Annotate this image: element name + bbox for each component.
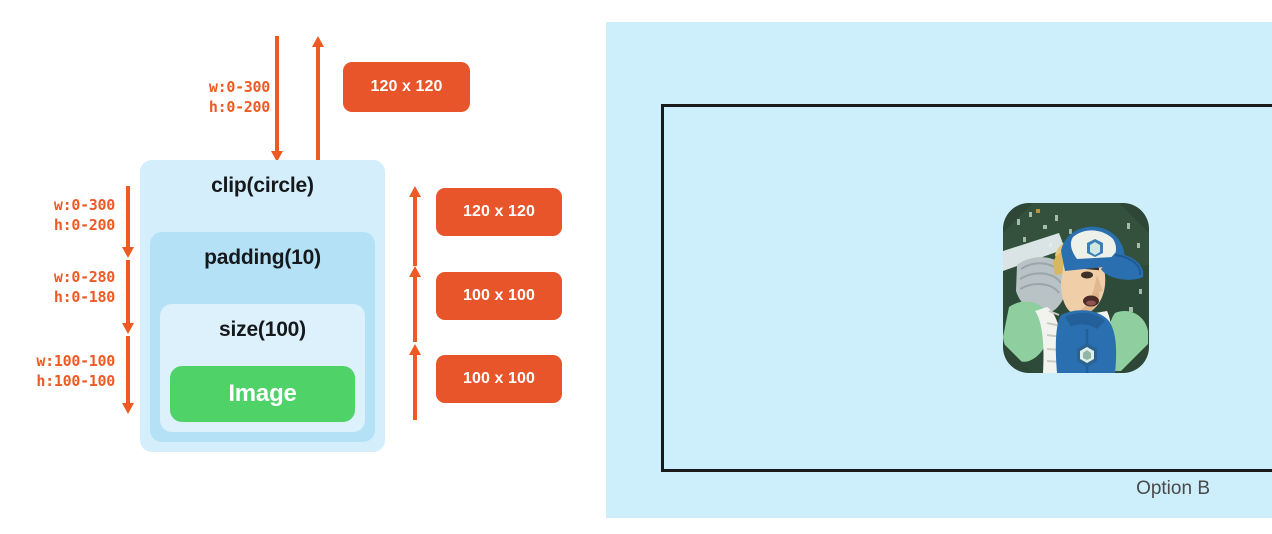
badge-clip-size: 120 x 120 [436,188,562,236]
preview-frame [661,104,1272,472]
preview-panel: Option B [606,22,1272,518]
badge-top: 120 x 120 [343,62,470,112]
widget-label-clip: clip(circle) [140,174,385,198]
badge-padding-size: 100 x 100 [436,272,562,320]
arrow-constraints-down-top [271,36,283,162]
constraint-label-padding: w:0-280h:0-180 [28,268,115,307]
constraint-label-incoming: w:0-300h:0-200 [170,78,270,117]
widget-label-size: size(100) [160,318,365,342]
arrow-size-up-2 [409,266,421,342]
arrow-size-up-1 [409,186,421,266]
arrow-constraint-down-1 [122,186,134,258]
constraint-label-clip: w:0-300h:0-200 [20,196,115,235]
constraint-label-size: w:100-100h:100-100 [8,352,115,391]
layout-constraint-diagram: w:0-300h:0-200 120 x 120 w:0-300h:0-200 … [0,0,600,534]
avatar-artwork-svg [1003,203,1149,373]
arrow-size-up-top [312,36,324,162]
widget-box-clip: clip(circle) padding(10) size(100) Image [140,160,385,452]
widget-label-padding: padding(10) [150,246,375,270]
clipped-avatar-image [1003,203,1149,373]
widget-box-image: Image [170,366,355,422]
arrow-constraint-down-2 [122,260,134,334]
option-label: Option B [1136,478,1210,500]
widget-label-image: Image [228,380,296,408]
diagram-stage: w:0-300h:0-200 120 x 120 w:0-300h:0-200 … [0,0,1272,534]
arrow-size-up-3 [409,344,421,420]
widget-box-size: size(100) Image [160,304,365,432]
badge-image-size: 100 x 100 [436,355,562,403]
widget-box-padding: padding(10) size(100) Image [150,232,375,442]
arrow-constraint-down-3 [122,336,134,414]
